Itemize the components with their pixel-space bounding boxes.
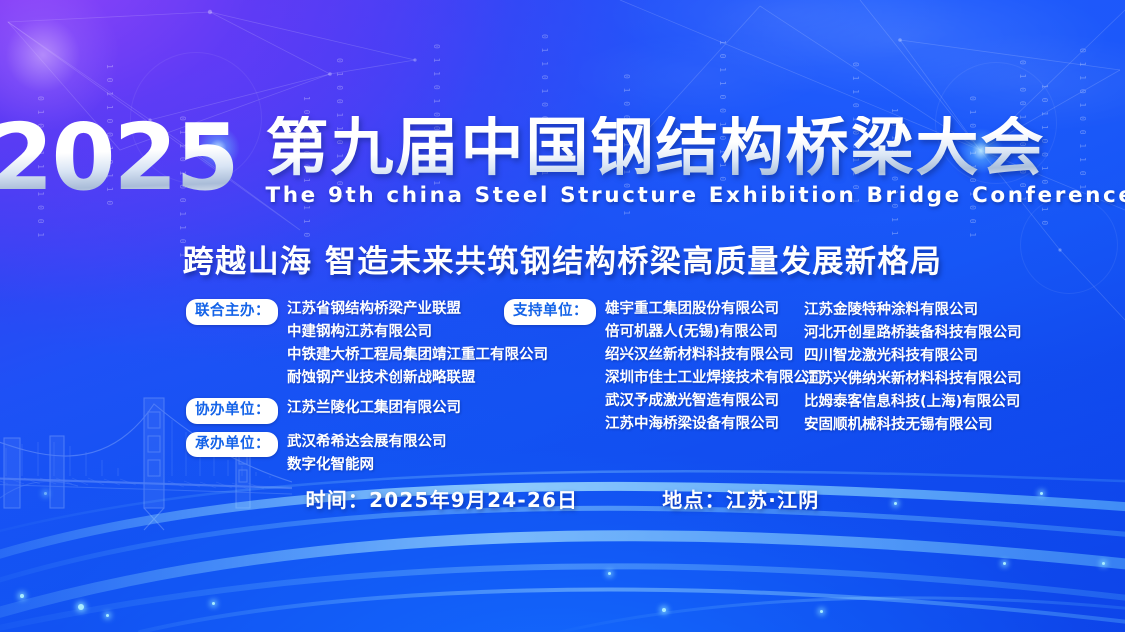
spark-9 xyxy=(1003,562,1006,565)
list-item: 武汉予成激光智造有限公司 xyxy=(605,390,823,413)
list-item: 河北开创星路桥装备科技有限公司 xyxy=(804,322,1022,345)
label-supporters: 支持单位： xyxy=(504,299,596,325)
list-item: 江苏中海桥梁设备有限公司 xyxy=(605,413,823,436)
spark-3 xyxy=(106,614,109,617)
organizers-right-column: 江苏金陵特种涂料有限公司 河北开创星路桥装备科技有限公司 四川智龙激光科技有限公… xyxy=(804,298,1024,484)
year-2025: 2025 xyxy=(0,116,252,201)
org-group-co-hosts: 联合主办： 江苏省钢结构桥梁产业联盟 中建钢构江苏有限公司 中铁建大桥工程局集团… xyxy=(186,298,504,390)
list-item: 倍可机器人(无锡)有限公司 xyxy=(605,321,823,344)
list-item: 绍兴汉丝新材料科技有限公司 xyxy=(605,344,823,367)
list-item: 深圳市佳士工业焊接技术有限公司 xyxy=(605,367,823,390)
list-item: 江苏金陵特种涂料有限公司 xyxy=(804,299,1022,322)
title-row: 2025 第九届中国钢结构桥梁大会 The 9th china Steel St… xyxy=(0,116,1125,214)
slogan: 跨越山海 智造未来共筑钢结构桥梁高质量发展新格局 xyxy=(0,236,1125,281)
org-group-co-organizers: 协办单位： 江苏兰陵化工集团有限公司 xyxy=(186,397,504,424)
spark-1 xyxy=(20,594,24,598)
spark-10 xyxy=(1102,562,1105,565)
label-undertakers: 承办单位： xyxy=(186,432,278,458)
label-co-organizers: 协办单位： xyxy=(186,398,278,424)
list-item: 江苏兴佛纳米新材料科技有限公司 xyxy=(804,368,1022,391)
event-time: 时间：2025年9月24-26日 xyxy=(306,484,579,513)
conference-banner: 0 1 0 0 1 1 0 1 0 0 1 1 0 1 1 0 0 1 0 1 … xyxy=(0,0,1125,632)
organizers-section: 联合主办： 江苏省钢结构桥梁产业联盟 中建钢构江苏有限公司 中铁建大桥工程局集团… xyxy=(186,298,1025,484)
spark-4 xyxy=(212,602,215,605)
list-item: 雄宇重工集团股份有限公司 xyxy=(605,298,823,321)
org-group-supporters: 支持单位： 雄宇重工集团股份有限公司 倍可机器人(无锡)有限公司 绍兴汉丝新材料… xyxy=(504,298,804,436)
spark-5 xyxy=(608,572,611,575)
title-block: 第九届中国钢结构桥梁大会 The 9th china Steel Structu… xyxy=(266,116,1125,208)
org-list-undertakers: 武汉希希达会展有限公司 数字化智能网 xyxy=(287,431,447,477)
spark-7 xyxy=(820,610,823,613)
org-group-supporters-continued: 江苏金陵特种涂料有限公司 河北开创星路桥装备科技有限公司 四川智龙激光科技有限公… xyxy=(804,298,1024,437)
banner-footer: 时间：2025年9月24-26日 地点：江苏·江阴 xyxy=(0,484,1125,513)
list-item: 武汉希希达会展有限公司 xyxy=(287,431,447,454)
org-list-supporters: 雄宇重工集团股份有限公司 倍可机器人(无锡)有限公司 绍兴汉丝新材料科技有限公司… xyxy=(605,298,823,436)
page-subtitle-en: The 9th china Steel Structure Exhibition… xyxy=(266,183,1125,208)
org-list-co-organizers: 江苏兰陵化工集团有限公司 xyxy=(287,397,461,420)
list-item: 数字化智能网 xyxy=(287,454,447,477)
organizers-middle-column: 支持单位： 雄宇重工集团股份有限公司 倍可机器人(无锡)有限公司 绍兴汉丝新材料… xyxy=(504,298,804,484)
org-group-undertakers: 承办单位： 武汉希希达会展有限公司 数字化智能网 xyxy=(186,431,504,477)
label-co-hosts: 联合主办： xyxy=(186,299,278,325)
spark-6 xyxy=(662,608,666,612)
page-title: 第九届中国钢结构桥梁大会 xyxy=(266,116,1125,180)
organizers-left-column: 联合主办： 江苏省钢结构桥梁产业联盟 中建钢构江苏有限公司 中铁建大桥工程局集团… xyxy=(186,298,504,484)
org-list-supporters-continued: 江苏金陵特种涂料有限公司 河北开创星路桥装备科技有限公司 四川智龙激光科技有限公… xyxy=(804,298,1022,437)
list-item: 安固顺机械科技无锡有限公司 xyxy=(804,414,1022,437)
list-item: 江苏兰陵化工集团有限公司 xyxy=(287,397,461,420)
spark-2 xyxy=(78,604,84,610)
list-item: 四川智龙激光科技有限公司 xyxy=(804,345,1022,368)
event-location: 地点：江苏·江阴 xyxy=(662,484,819,513)
list-item: 比姆泰客信息科技(上海)有限公司 xyxy=(804,391,1022,414)
